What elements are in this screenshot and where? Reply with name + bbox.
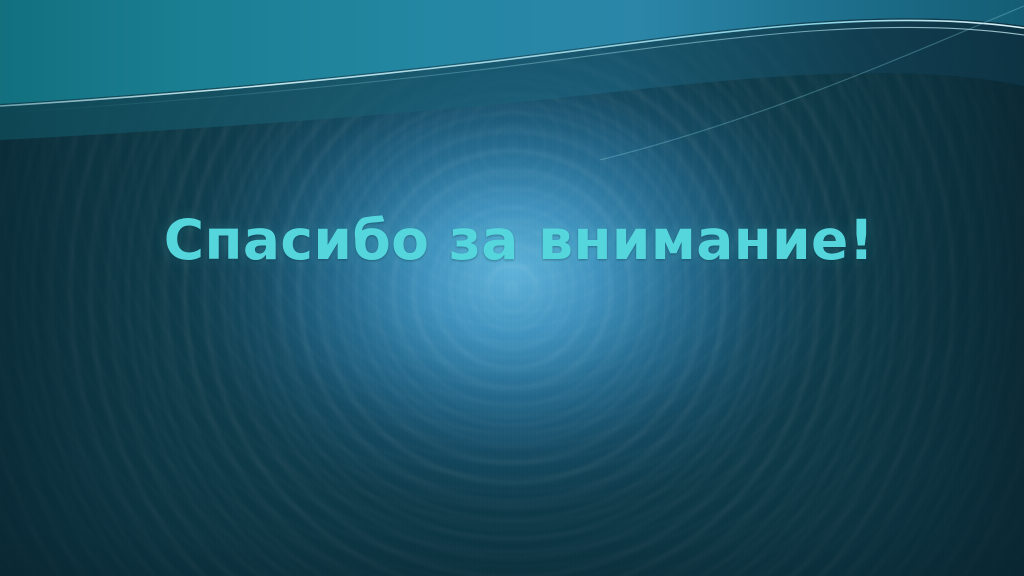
title-container: Спасибо за внимание! — [0, 0, 1024, 576]
presentation-slide: Спасибо за внимание! — [0, 0, 1024, 576]
slide-title: Спасибо за внимание! — [150, 213, 875, 268]
